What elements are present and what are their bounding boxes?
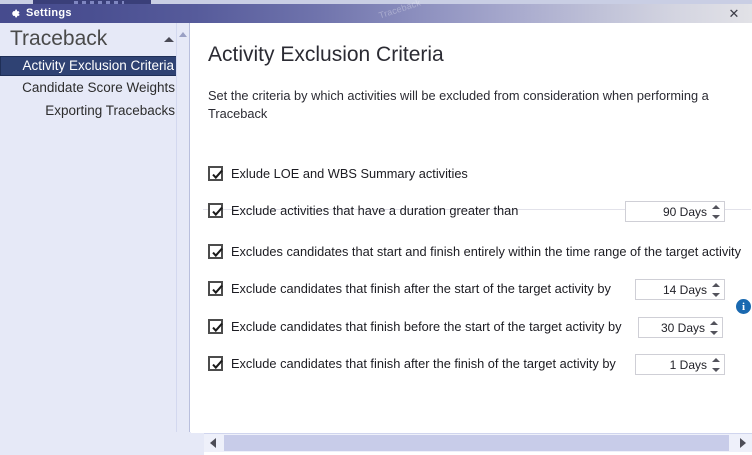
content-panel: Activity Exclusion Criteria Set the crit…: [191, 23, 752, 432]
finish-after-start-spinner[interactable]: 14 Days: [635, 279, 725, 300]
criteria-label: Exclude candidates that finish after the…: [231, 355, 616, 373]
sidebar-item-candidate-score-weights[interactable]: Candidate Score Weights: [0, 78, 183, 98]
check-icon: [211, 168, 224, 181]
triangle-left-icon: [210, 438, 216, 448]
sidebar-header[interactable]: Traceback: [0, 25, 190, 55]
scroll-left-button[interactable]: [204, 434, 222, 452]
sidebar-item-label: Exporting Tracebacks: [45, 103, 175, 118]
sidebar-item-label: Candidate Score Weights: [22, 80, 175, 95]
spinner-value: 30 Days: [661, 320, 705, 336]
criteria-label: Exclude activities that have a duration …: [231, 202, 518, 220]
triangle-right-icon: [740, 438, 746, 448]
check-icon: [211, 358, 224, 371]
spinner-up-icon[interactable]: [712, 205, 720, 209]
gear-icon: [8, 7, 21, 20]
spinner-down-icon[interactable]: [712, 215, 720, 219]
checkbox-exclude-loe-wbs[interactable]: [208, 166, 223, 181]
criteria-label: Exlude LOE and WBS Summary activities: [231, 165, 468, 183]
criteria-label: Exclude candidates that finish before th…: [231, 318, 622, 336]
criteria-label: Excludes candidates that start and finis…: [231, 243, 741, 261]
criteria-row: Exclude candidates that finish after the…: [191, 353, 752, 379]
check-icon: [211, 205, 224, 218]
checkbox-exclude-duration-greater[interactable]: [208, 203, 223, 218]
check-icon: [211, 321, 224, 334]
spinner-value: 14 Days: [663, 282, 707, 298]
sidebar: Traceback Activity Exclusion Criteria Ca…: [0, 23, 190, 455]
checkbox-exclude-within-range[interactable]: [208, 244, 223, 259]
spinner-down-icon[interactable]: [712, 293, 720, 297]
chevron-up-icon[interactable]: [164, 37, 174, 42]
scroll-right-button[interactable]: [734, 434, 752, 452]
horizontal-scrollbar[interactable]: [204, 433, 752, 452]
spinner-value: 90 Days: [663, 204, 707, 220]
spinner-down-icon[interactable]: [710, 331, 718, 335]
spinner-down-icon[interactable]: [712, 368, 720, 372]
titlebar-watermark: Traceback: [378, 0, 422, 20]
checkbox-finish-before-start[interactable]: [208, 319, 223, 334]
checkbox-finish-after-start[interactable]: [208, 281, 223, 296]
criteria-row: Exlude LOE and WBS Summary activities: [191, 163, 752, 189]
criteria-row: Excludes candidates that start and finis…: [191, 241, 752, 267]
sidebar-header-label: Traceback: [10, 27, 107, 51]
duration-spinner[interactable]: 90 Days: [625, 201, 725, 222]
scrollbar-thumb[interactable]: [224, 435, 729, 451]
sidebar-item-activity-exclusion-criteria[interactable]: Activity Exclusion Criteria: [0, 56, 183, 76]
scrollbar-corner: [191, 433, 204, 455]
criteria-row: Exclude candidates that finish after the…: [191, 278, 752, 304]
spinner-arrows[interactable]: [712, 358, 720, 372]
spinner-arrows[interactable]: [712, 283, 720, 297]
sidebar-item-label: Activity Exclusion Criteria: [22, 58, 174, 73]
criteria-label: Exclude candidates that finish after the…: [231, 280, 611, 298]
spinner-up-icon[interactable]: [712, 358, 720, 362]
spinner-up-icon[interactable]: [710, 321, 718, 325]
sidebar-bottom-fill: [0, 432, 191, 455]
finish-before-start-spinner[interactable]: 30 Days: [638, 317, 723, 338]
spinner-up-icon[interactable]: [712, 283, 720, 287]
title-bar: Traceback Settings ✕: [0, 4, 752, 23]
window-title: Settings: [26, 7, 72, 19]
finish-after-finish-spinner[interactable]: 1 Days: [635, 354, 725, 375]
page-title: Activity Exclusion Criteria: [208, 43, 444, 67]
settings-window: Traceback Settings ✕ Traceback Activity …: [0, 0, 752, 455]
page-description: Set the criteria by which activities wil…: [208, 87, 738, 123]
check-icon: [211, 283, 224, 296]
scroll-up-button[interactable]: [177, 27, 189, 41]
info-icon[interactable]: i: [736, 299, 751, 314]
sidebar-vertical-scrollbar[interactable]: [176, 23, 189, 455]
spinner-arrows[interactable]: [710, 321, 718, 335]
spinner-value: 1 Days: [670, 357, 707, 373]
close-icon[interactable]: ✕: [716, 4, 752, 23]
spinner-arrows[interactable]: [712, 205, 720, 219]
checkbox-finish-after-finish[interactable]: [208, 356, 223, 371]
criteria-row: Exclude activities that have a duration …: [191, 200, 752, 226]
criteria-row: Exclude candidates that finish before th…: [191, 316, 752, 342]
sidebar-item-exporting-tracebacks[interactable]: Exporting Tracebacks: [0, 101, 183, 121]
check-icon: [211, 246, 224, 259]
triangle-up-icon: [179, 32, 187, 37]
